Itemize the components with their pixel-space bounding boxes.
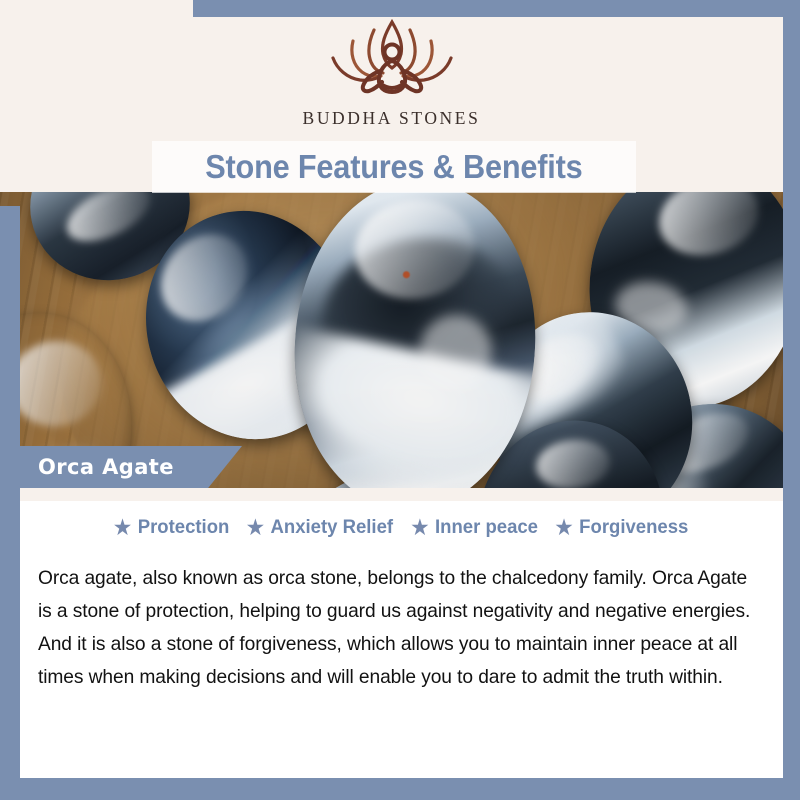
stone-name-label: Orca Agate (38, 455, 174, 479)
page-title: Stone Features & Benefits (205, 148, 582, 186)
hero-photo (0, 192, 783, 488)
benefit-item-anxiety-relief: ★ Anxiety Relief (247, 516, 393, 539)
stone-name-banner: Orca Agate (0, 446, 242, 488)
benefit-label: Anxiety Relief (271, 516, 394, 539)
benefit-label: Forgiveness (580, 516, 689, 539)
frame-border-right (783, 0, 800, 800)
infographic-page: BUDDHA STONES (0, 0, 800, 800)
benefit-item-inner-peace: ★ Inner peace (411, 516, 538, 539)
brand-logo: BUDDHA STONES (0, 14, 783, 129)
frame-border-left (0, 206, 20, 800)
benefit-label: Inner peace (435, 516, 538, 539)
brand-name: BUDDHA STONES (303, 108, 481, 129)
panel-top-strip (20, 488, 783, 501)
agate-stone-primary (284, 192, 546, 488)
frame-border-top (193, 0, 800, 17)
frame-border-bottom (0, 778, 800, 800)
benefit-item-forgiveness: ★ Forgiveness (556, 516, 689, 539)
star-icon: ★ (114, 518, 131, 538)
page-title-banner: Stone Features & Benefits (152, 141, 636, 193)
description-panel: ★ Protection ★ Anxiety Relief ★ Inner pe… (20, 488, 783, 778)
lotus-meditation-logo-icon (317, 14, 467, 102)
star-icon: ★ (247, 518, 264, 538)
benefits-list: ★ Protection ★ Anxiety Relief ★ Inner pe… (20, 516, 783, 539)
benefit-label: Protection (138, 516, 230, 539)
description-text: Orca agate, also known as orca stone, be… (38, 562, 753, 694)
star-icon: ★ (411, 518, 428, 538)
benefit-item-protection: ★ Protection (114, 516, 229, 539)
star-icon: ★ (556, 518, 573, 538)
